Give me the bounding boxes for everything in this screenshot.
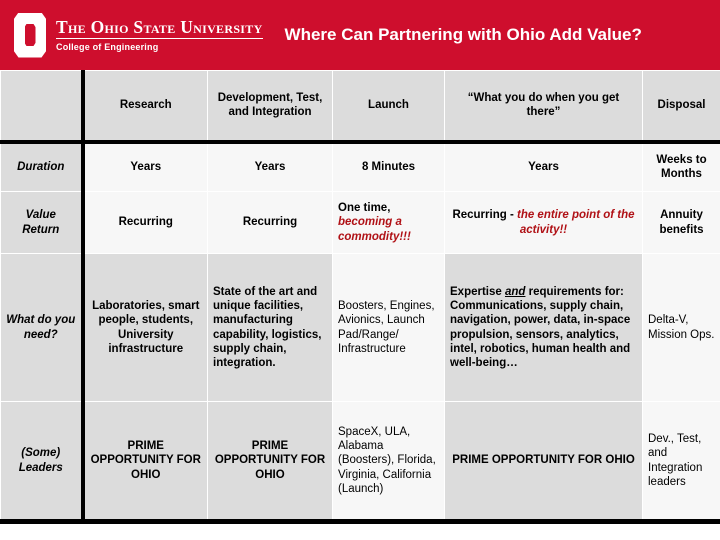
cell-value-research: Recurring	[83, 192, 208, 254]
cell-duration-disposal: Weeks to Months	[643, 142, 720, 192]
cell-value-launch: One time, becoming a commodity!!!	[333, 192, 445, 254]
column-header-what-you-do: “What you do when you get there”	[445, 71, 643, 142]
cell-leaders-launch: SpaceX, ULA, Alabama (Boosters), Florida…	[333, 402, 445, 522]
cell-need-what-emphasis: and	[505, 286, 525, 298]
cell-leaders-development: PRIME OPPORTUNITY FOR OHIO	[208, 402, 333, 522]
cell-value-what-black: Recurring -	[452, 209, 513, 221]
row-label-what-do-you-need: What do you need?	[1, 254, 83, 402]
college-name: College of Engineering	[56, 42, 263, 52]
cell-duration-launch: 8 Minutes	[333, 142, 445, 192]
column-header-development: Development, Test, and Integration	[208, 71, 333, 142]
header-corner-cell	[1, 71, 83, 142]
cell-need-development: State of the art and unique facilities, …	[208, 254, 333, 402]
table-header-row: Research Development, Test, and Integrat…	[1, 71, 720, 142]
cell-need-research: Laboratories, smart people, students, Un…	[83, 254, 208, 402]
cell-duration-development: Years	[208, 142, 333, 192]
university-name: The Ohio State University	[56, 18, 263, 39]
cell-need-disposal: Delta-V, Mission Ops.	[643, 254, 720, 402]
column-header-disposal: Disposal	[643, 71, 720, 142]
cell-value-launch-red: becoming a commodity!!!	[338, 216, 411, 242]
cell-leaders-research: PRIME OPPORTUNITY FOR OHIO	[83, 402, 208, 522]
cell-need-what-you-do: Expertise and requirements for: Communic…	[445, 254, 643, 402]
cell-duration-what-you-do: Years	[445, 142, 643, 192]
cell-leaders-what-you-do: PRIME OPPORTUNITY FOR OHIO	[445, 402, 643, 522]
matrix-table-wrapper: Research Development, Test, and Integrat…	[0, 70, 720, 524]
column-header-research: Research	[83, 71, 208, 142]
table-row: What do you need? Laboratories, smart pe…	[1, 254, 720, 402]
row-label-duration: Duration	[1, 142, 83, 192]
cell-value-what-red: the entire point of the activity!!	[517, 209, 635, 235]
slide-canvas: The Ohio State University College of Eng…	[0, 0, 720, 540]
table-row: (Some) Leaders PRIME OPPORTUNITY FOR OHI…	[1, 402, 720, 522]
cell-need-launch: Boosters, Engines, Avionics, Launch Pad/…	[333, 254, 445, 402]
cell-value-development: Recurring	[208, 192, 333, 254]
table-row: Duration Years Years 8 Minutes Years Wee…	[1, 142, 720, 192]
cell-duration-research: Years	[83, 142, 208, 192]
row-label-some-leaders: (Some) Leaders	[1, 402, 83, 522]
cell-value-what-you-do: Recurring - the entire point of the acti…	[445, 192, 643, 254]
osu-branding: The Ohio State University College of Eng…	[0, 13, 263, 58]
slide-header: The Ohio State University College of Eng…	[0, 0, 720, 70]
column-header-launch: Launch	[333, 71, 445, 142]
table-row: Value Return Recurring Recurring One tim…	[1, 192, 720, 254]
cell-value-disposal: Annuity benefits	[643, 192, 720, 254]
cell-need-what-pre: Expertise	[450, 286, 502, 298]
slide-title: Where Can Partnering with Ohio Add Value…	[285, 25, 642, 45]
cell-leaders-disposal: Dev., Test, and Integration leaders	[643, 402, 720, 522]
capability-matrix-table: Research Development, Test, and Integrat…	[0, 70, 720, 524]
row-label-value-return: Value Return	[1, 192, 83, 254]
wordmark: The Ohio State University College of Eng…	[56, 18, 263, 52]
cell-value-launch-black: One time,	[338, 202, 390, 214]
block-o-logo-icon	[14, 13, 46, 58]
cell-need-what-post: requirements for: Communications, supply…	[450, 286, 630, 368]
